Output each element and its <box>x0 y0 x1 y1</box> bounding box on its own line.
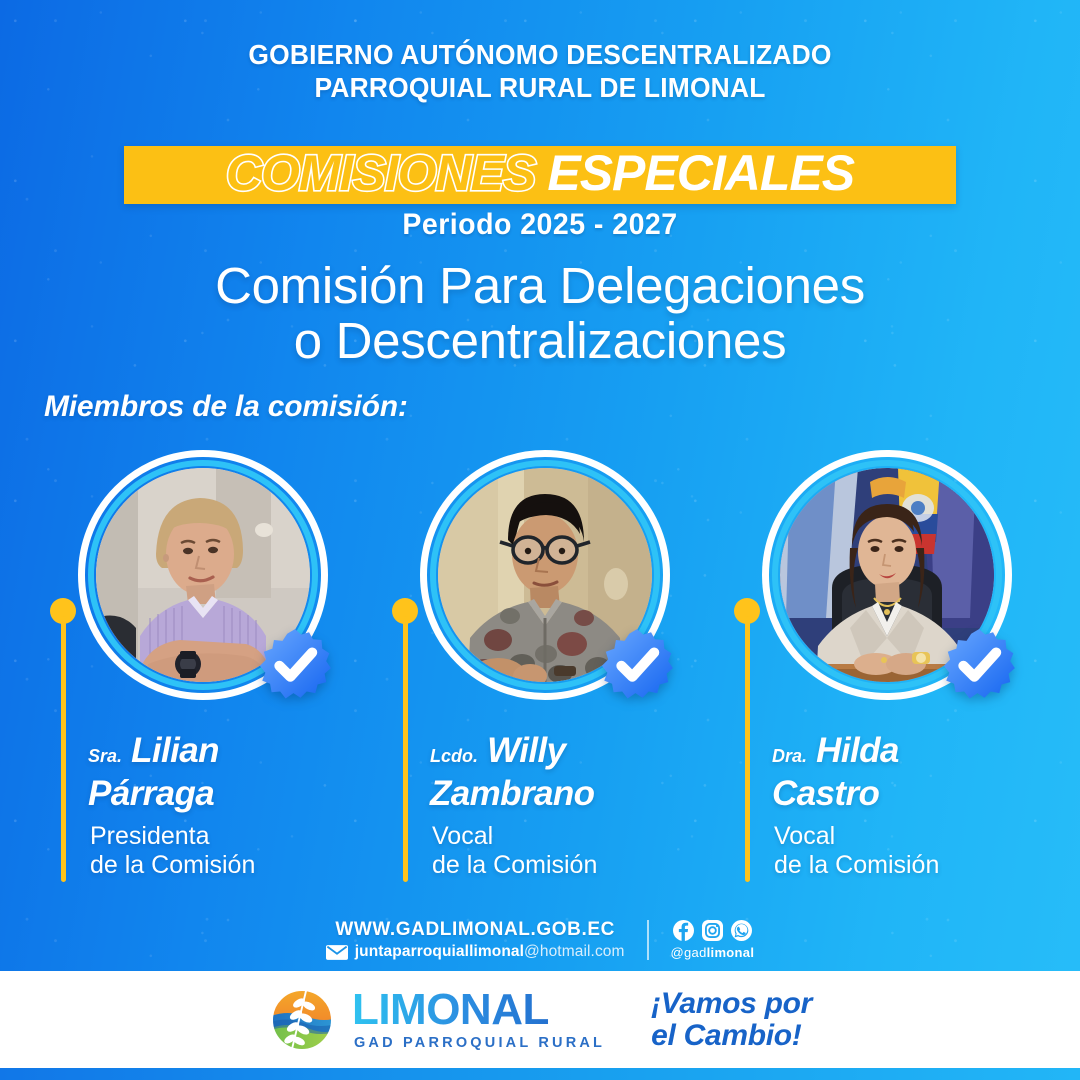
brand-name: LIMONAL <box>352 988 605 1032</box>
members-label: Miembros de la comisión: <box>44 390 408 424</box>
member-prefix: Sra. <box>88 746 122 766</box>
contact-right: @gadlimonal <box>671 920 755 960</box>
slogan-line1: ¡Vamos por <box>651 988 812 1020</box>
member-card: Dra. Hilda Castro Vocal de la Comisión <box>712 440 1052 910</box>
ribbon-word-especiales: ESPECIALES <box>547 144 854 202</box>
brand-subtitle: GAD PARROQUIAL RURAL <box>354 1036 605 1051</box>
slogan-line2: el Cambio! <box>651 1020 812 1052</box>
member-role-line1: Vocal <box>432 822 722 851</box>
member-last-name: Párraga <box>88 774 214 813</box>
member-name: Sra. Lilian Párraga <box>88 732 368 813</box>
member-role: Vocal de la Comisión <box>432 822 722 880</box>
organization-title-line2: PARROQUIAL RURAL DE LIMONAL <box>22 71 1059 104</box>
period-label: Periodo 2025 - 2027 <box>27 208 1053 242</box>
email-row[interactable]: juntaparroquiallimonal@hotmail.com <box>326 944 625 960</box>
member-role-line2: de la Comisión <box>774 851 1064 880</box>
email-user: juntaparroquiallimonal <box>355 943 524 960</box>
envelope-icon <box>326 945 348 960</box>
member-role-line2: de la Comisión <box>90 851 380 880</box>
verified-badge-icon <box>940 626 1018 704</box>
member-first-name: Lilian <box>131 731 219 770</box>
footer-bar: LIMONAL GAD PARROQUIAL RURAL ¡Vamos por … <box>0 971 1080 1068</box>
commission-title-line2: o Descentralizaciones <box>0 313 1080 368</box>
slogan: ¡Vamos por el Cambio! <box>651 988 812 1052</box>
website-link[interactable]: WWW.GADLIMONAL.GOB.EC <box>335 920 615 939</box>
member-role-line2: de la Comisión <box>432 851 722 880</box>
ribbon-banner-text: COMISIONESESPECIALES <box>124 142 956 204</box>
member-photo-frame <box>762 450 1012 700</box>
contact-strip: WWW.GADLIMONAL.GOB.EC juntaparroquiallim… <box>0 912 1080 968</box>
member-role: Presidenta de la Comisión <box>90 822 380 880</box>
pin-marker-icon <box>392 598 418 882</box>
member-first-name: Willy <box>487 731 565 770</box>
email-domain: @hotmail.com <box>524 943 625 960</box>
brand-text: LIMONAL GAD PARROQUIAL RURAL <box>352 988 605 1051</box>
pin-marker-icon <box>50 598 76 882</box>
organization-title: GOBIERNO AUTÓNOMO DESCENTRALIZADO PARROQ… <box>22 38 1059 104</box>
instagram-icon[interactable] <box>702 920 723 941</box>
bottom-strip <box>0 1068 1080 1080</box>
social-icons <box>673 920 752 941</box>
member-prefix: Lcdo. <box>430 746 478 766</box>
member-photo-frame <box>78 450 328 700</box>
limonal-emblem-icon <box>268 987 340 1053</box>
contact-divider <box>647 920 649 960</box>
member-card: Sra. Lilian Párraga Presidenta de la Com… <box>28 440 368 910</box>
member-name: Dra. Hilda Castro <box>772 732 1052 813</box>
members-list: Sra. Lilian Párraga Presidenta de la Com… <box>0 440 1080 910</box>
member-name: Lcdo. Willy Zambrano <box>430 732 710 813</box>
verified-badge-icon <box>598 626 676 704</box>
member-photo-frame <box>420 450 670 700</box>
commission-title: Comisión Para Delegaciones o Descentrali… <box>0 258 1080 368</box>
email-text: juntaparroquiallimonal@hotmail.com <box>355 944 625 960</box>
organization-title-line1: GOBIERNO AUTÓNOMO DESCENTRALIZADO <box>22 38 1059 71</box>
member-prefix: Dra. <box>772 746 807 766</box>
facebook-icon[interactable] <box>673 920 694 941</box>
verified-badge-icon <box>256 626 334 704</box>
member-role-line1: Vocal <box>774 822 1064 851</box>
handle-name: limonal <box>707 945 755 960</box>
brand-lockup: LIMONAL GAD PARROQUIAL RURAL <box>268 987 605 1053</box>
member-role: Vocal de la Comisión <box>774 822 1064 880</box>
social-handle: @gadlimonal <box>671 945 755 960</box>
member-last-name: Castro <box>772 774 879 813</box>
whatsapp-icon[interactable] <box>731 920 752 941</box>
pin-marker-icon <box>734 598 760 882</box>
handle-at: @gad <box>671 945 707 960</box>
member-last-name: Zambrano <box>430 774 594 813</box>
ribbon-word-comisiones: COMISIONES <box>226 144 535 202</box>
poster: GOBIERNO AUTÓNOMO DESCENTRALIZADO PARROQ… <box>0 0 1080 1080</box>
member-first-name: Hilda <box>816 731 899 770</box>
member-role-line1: Presidenta <box>90 822 380 851</box>
commission-title-line1: Comisión Para Delegaciones <box>0 258 1080 313</box>
member-card: Lcdo. Willy Zambrano Vocal de la Comisió… <box>370 440 710 910</box>
contact-left: WWW.GADLIMONAL.GOB.EC juntaparroquiallim… <box>326 920 625 960</box>
